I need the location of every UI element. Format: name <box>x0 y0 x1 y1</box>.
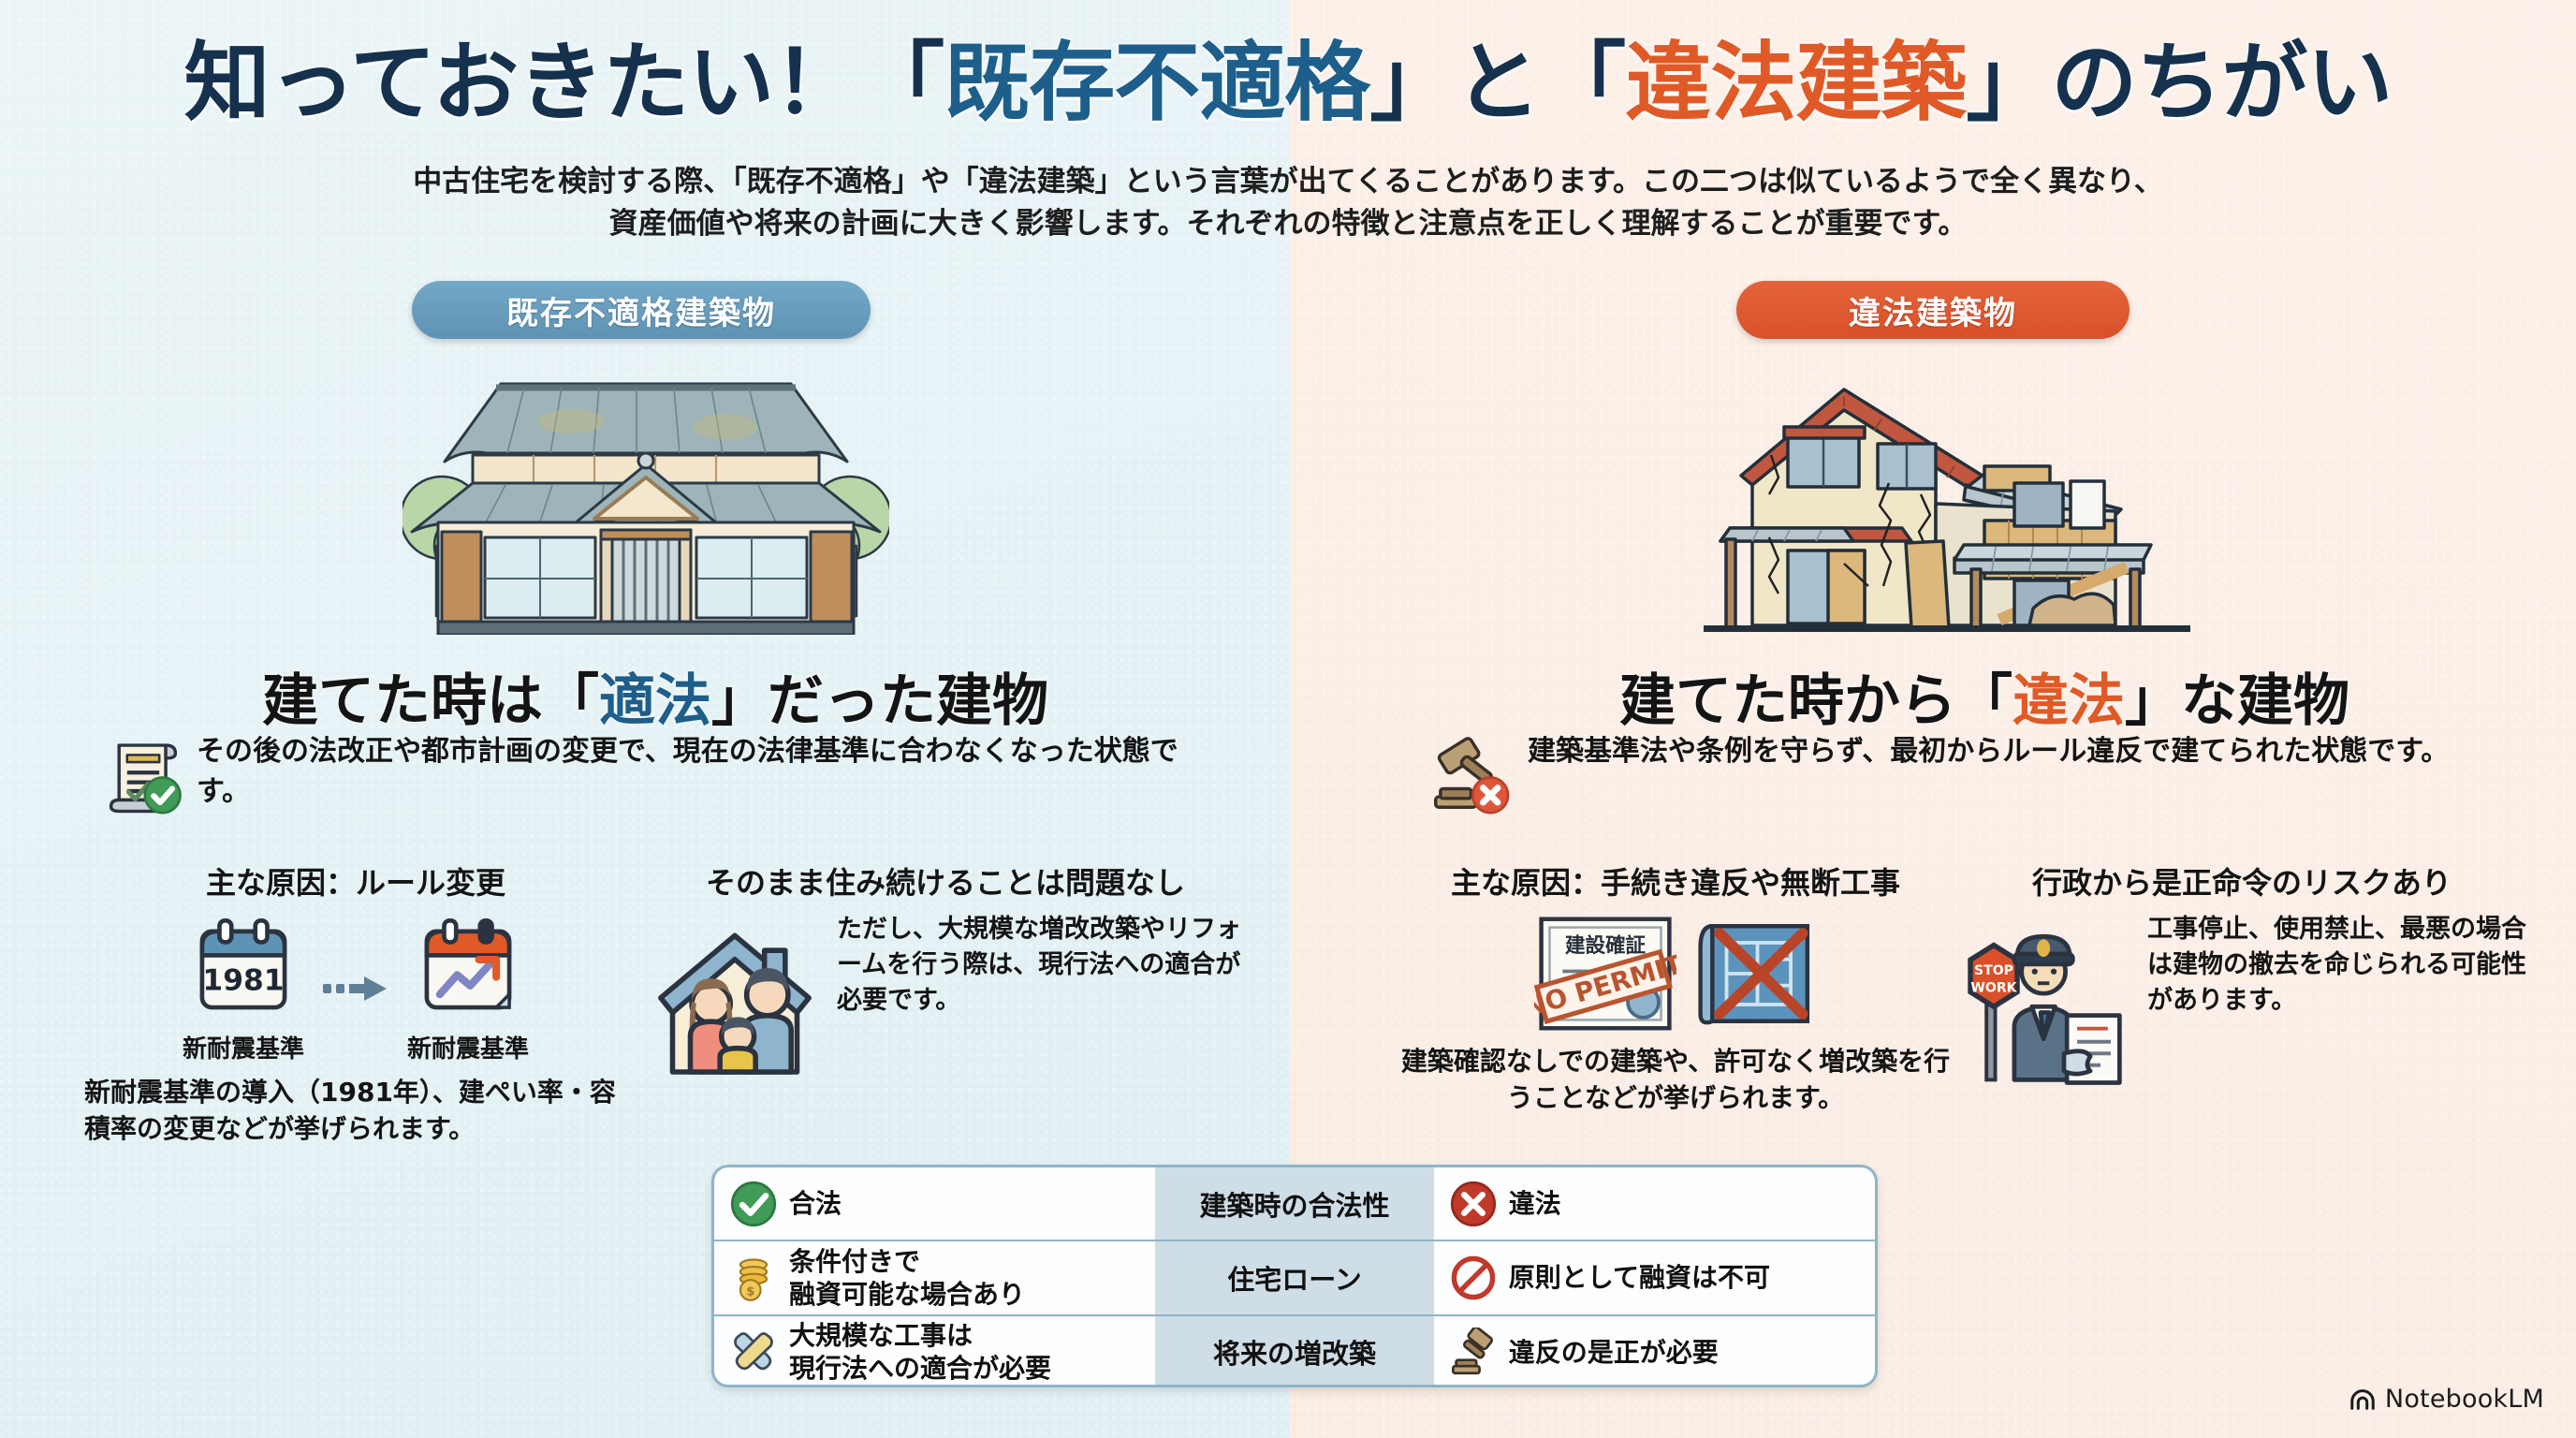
stop-work-officer-icon: STOP WORK <box>1947 912 2134 1090</box>
table-row: $ 条件付きで 融資可能な場合あり 住宅ローン 原則として融資は不可 <box>714 1241 1875 1315</box>
table-right-text: 原則として融資は不可 <box>1509 1261 1770 1294</box>
left-panel2-body: ただし、大規模な増改改築やリフォームを行う際は、現行法への適合が必要です。 <box>646 912 1245 1090</box>
calendar-trend-up-icon <box>414 912 522 1020</box>
left-panel1-note: 新耐震基準の導入（1981年）、建ぺい率・容積率の変更などが挙げられます。 <box>84 1074 627 1147</box>
notebooklm-label: NotebookLM <box>2385 1385 2544 1414</box>
right-lead-block: 建築基準法や条例を守らず、最初からルール違反で建てられた状態です。 <box>1434 732 2539 814</box>
left-panel1-title: 主な原因：ルール変更 <box>84 859 627 902</box>
table-cell-label: 住宅ローン <box>1155 1241 1434 1313</box>
table-right-text: 違反の是正が必要 <box>1509 1336 1719 1369</box>
right-panel-procedure-violation: 主な原因：手続き違反や無断工事 建設確証 NO PERMIT <box>1395 859 1956 1116</box>
left-column-heading: 建てた時は「適法」だった建物 <box>94 655 1217 737</box>
calendar-1981-item: 1981 新耐震基準 <box>183 912 304 1064</box>
left-lead-block: その後の法改正や都市計画の変更で、現在の法律基準に合わなくなった状態です。 <box>103 732 1207 814</box>
table-cell-right: 原則として融資は不可 <box>1434 1241 1875 1313</box>
title-part-2: 」と「 <box>1369 33 1625 133</box>
left-panel-keep-living: そのまま住み続けることは問題なし <box>646 859 1245 1090</box>
table-row: 大規模な工事は 現行法への適合が必要 将来の増改築 違反の是正が必要 <box>714 1316 1875 1387</box>
dotted-arrow-right-icon <box>321 972 390 1005</box>
coins-icon: $ <box>729 1254 778 1302</box>
illegal-extended-house-illustration <box>1704 345 2190 639</box>
right-panel1-note: 建築確認なしでの建築や、許可なく増改築を行うことなどが挙げられます。 <box>1395 1043 1956 1116</box>
certificate-title-text: 建設確証 <box>1565 933 1647 958</box>
calendar-comparison: 1981 新耐震基準 <box>84 912 627 1064</box>
left-panel2-note: ただし、大規模な増改改築やリフォームを行う際は、現行法への適合が必要です。 <box>837 912 1245 1018</box>
title-part-1: 知っておきたい！「 <box>184 33 944 133</box>
table-row: 合法 建築時の合法性 違法 <box>714 1167 1875 1241</box>
badge-right-label: 違法建築物 <box>1849 287 2017 333</box>
title-keyword-ihou: 違法建築 <box>1625 33 1966 133</box>
notebooklm-icon <box>2349 1386 2377 1414</box>
badge-left-label: 既存不適格建築物 <box>506 287 776 333</box>
badge-illegal-building: 違法建築物 <box>1736 281 2130 339</box>
stop-sign-line2: WORK <box>1970 981 2017 996</box>
right-heading-part-a: 建てた時から「 <box>1619 668 2012 734</box>
right-panel2-title: 行政から是正命令のリスクあり <box>1947 859 2537 902</box>
right-panel2-note: 工事停止、使用禁止、最悪の場合は建物の撤去を命じられる可能性があります。 <box>2147 912 2537 1018</box>
calendar-trend-caption: 新耐震基準 <box>407 1030 529 1064</box>
table-cell-label: 将来の増改築 <box>1155 1316 1434 1387</box>
calendar-year-text: 1981 <box>202 964 284 998</box>
left-heading-keyword: 適法 <box>599 668 711 734</box>
comparison-table: 合法 建築時の合法性 違法 <box>711 1165 1878 1387</box>
right-panel-correction-order: 行政から是正命令のリスクあり STOP WORK <box>1947 859 2537 1090</box>
left-panel2-title: そのまま住み続けることは問題なし <box>646 859 1245 902</box>
right-lead-text: 建築基準法や条例を守らず、最初からルール違反で建てられた状態です。 <box>1528 732 2449 772</box>
subtitle-line-1: 中古住宅を検討する際、「既存不適格」や「違法建築」という言葉が出てくることがあり… <box>0 161 2576 203</box>
traditional-japanese-house-illustration <box>402 345 889 635</box>
page-title: 知っておきたい！「既存不適格」と「違法建築」のちがい <box>0 13 2576 138</box>
table-left-text: 条件付きで 融資可能な場合あり <box>789 1245 1025 1311</box>
right-column-heading: 建てた時から「違法」な建物 <box>1423 655 2546 737</box>
page-subtitle: 中古住宅を検討する際、「既存不適格」や「違法建築」という言葉が出てくることがあり… <box>0 161 2576 245</box>
right-heading-keyword: 違法 <box>2012 668 2125 734</box>
table-left-text: 合法 <box>789 1187 842 1220</box>
table-left-text: 大規模な工事は 現行法への適合が必要 <box>789 1319 1051 1385</box>
svg-text:$: $ <box>746 1284 754 1299</box>
left-lead-text: その後の法改正や都市計画の変更で、現在の法律基準に合わなくなった状態です。 <box>197 732 1207 812</box>
table-cell-left: 大規模な工事は 現行法への適合が必要 <box>714 1316 1155 1387</box>
calendar-trend-item: 新耐震基準 <box>407 912 529 1064</box>
badge-existing-nonconforming: 既存不適格建築物 <box>412 281 871 339</box>
title-part-3: 」のちがい <box>1966 33 2392 133</box>
subtitle-line-2: 資産価値や将来の計画に大きく影響します。それぞれの特徴と注意点を正しく理解するこ… <box>0 203 2576 245</box>
table-cell-left: $ 条件付きで 融資可能な場合あり <box>714 1241 1155 1313</box>
left-heading-part-b: 」だった建物 <box>711 668 1048 734</box>
check-circle-icon <box>729 1180 778 1228</box>
stop-sign-line1: STOP <box>1974 963 2013 978</box>
crossed-blueprint-icon <box>1693 912 1817 1035</box>
right-panel2-body: STOP WORK <box>1947 912 2537 1090</box>
table-cell-right: 違反の是正が必要 <box>1434 1316 1875 1387</box>
no-permit-certificate-icon: 建設確証 NO PERMIT <box>1534 912 1676 1035</box>
calendar-1981-caption: 新耐震基準 <box>183 1030 304 1064</box>
right-heading-part-b: 」な建物 <box>2125 668 2349 734</box>
left-panel-rule-change: 主な原因：ルール変更 1981 新耐震基準 <box>84 859 627 1147</box>
family-house-icon <box>646 912 824 1090</box>
table-cell-left: 合法 <box>714 1167 1155 1240</box>
x-circle-icon <box>1449 1180 1498 1228</box>
prohibited-icon <box>1449 1254 1498 1302</box>
notebooklm-watermark: NotebookLM <box>2349 1385 2544 1414</box>
table-cell-label: 建築時の合法性 <box>1155 1167 1434 1240</box>
infographic-canvas: 知っておきたい！「既存不適格」と「違法建築」のちがい 中古住宅を検討する際、「既… <box>0 0 2576 1438</box>
calendar-1981-icon: 1981 <box>189 912 298 1020</box>
right-panel1-title: 主な原因：手続き違反や無断工事 <box>1395 859 1956 902</box>
table-cell-right: 違法 <box>1434 1167 1875 1240</box>
title-keyword-kizon: 既存不適格 <box>944 33 1369 133</box>
tools-icon <box>729 1328 778 1376</box>
document-check-icon <box>103 734 183 814</box>
table-right-text: 違法 <box>1509 1187 1561 1220</box>
gavel-x-icon <box>1434 734 1515 814</box>
left-heading-part-a: 建てた時は「 <box>262 668 599 734</box>
right-panel1-icons: 建設確証 NO PERMIT <box>1395 912 1956 1035</box>
gavel-icon <box>1449 1328 1498 1376</box>
